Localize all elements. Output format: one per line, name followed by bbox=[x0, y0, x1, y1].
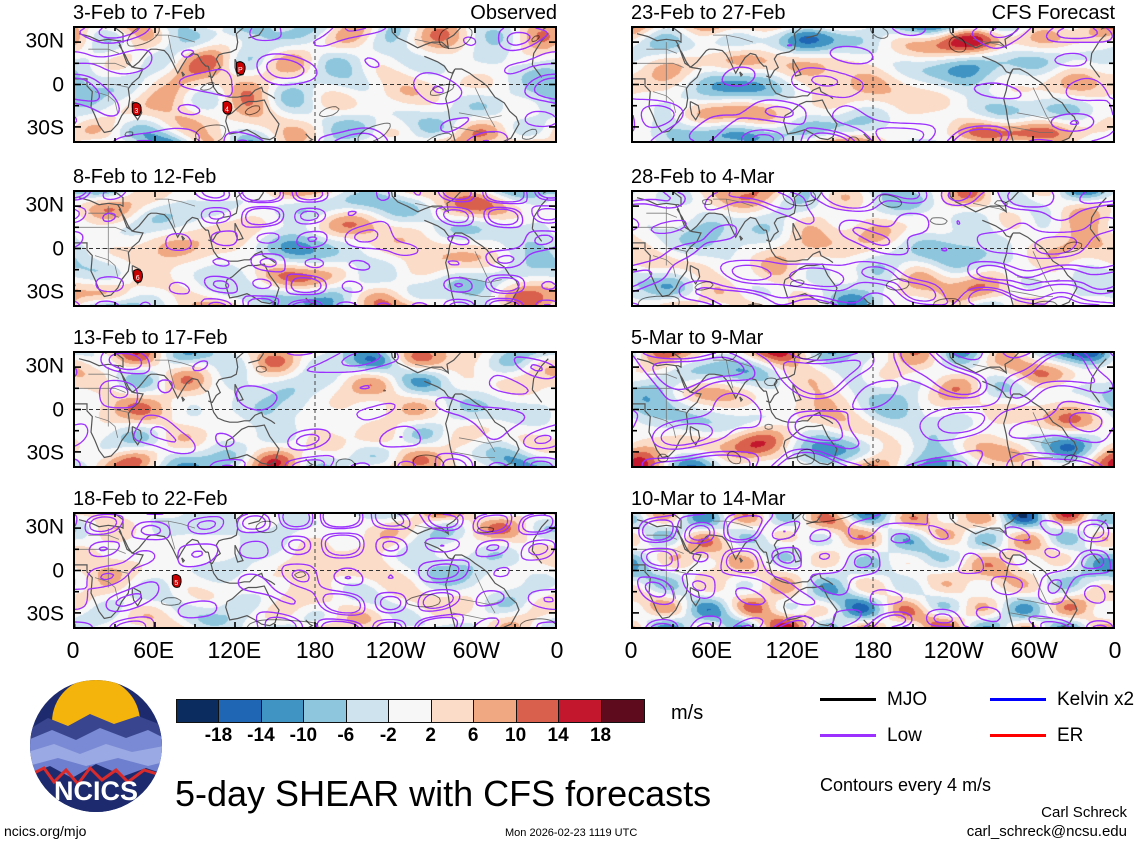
map-canvas-obs-3 bbox=[73, 351, 557, 468]
xlabel-left-120E-2: 120E bbox=[207, 639, 261, 662]
storm-marker-obs-1-2: 4 bbox=[223, 101, 232, 114]
map-panel-obs-4: 18-Feb to 22-Feb530N030S060E120E180120W6… bbox=[73, 512, 557, 629]
map-panel-fcst-1: 23-Feb to 27-FebCFS Forecast bbox=[631, 26, 1115, 143]
colorbar-tick-neg10: -10 bbox=[290, 726, 317, 745]
ylabel-obs-2-0: 0 bbox=[52, 238, 64, 259]
map-overlay-fcst-4 bbox=[633, 514, 1113, 627]
panel-title-fcst-2: 28-Feb to 4-Mar bbox=[631, 167, 774, 187]
xlabel-left-60E-1: 60E bbox=[133, 639, 174, 662]
panel-title-obs-1: 3-Feb to 7-Feb bbox=[73, 3, 205, 23]
ylabel-obs-1-0: 0 bbox=[52, 74, 64, 95]
colorbar-cell-2 bbox=[262, 700, 304, 722]
legend-swatch-er bbox=[990, 734, 1046, 737]
xlabel-right-120W-4: 120W bbox=[924, 639, 984, 662]
ylabel-obs-1-30N: 30N bbox=[25, 30, 64, 51]
contour-legend: MJOKelvin x2LowER bbox=[820, 690, 1120, 760]
map-overlay-obs-3 bbox=[75, 353, 555, 466]
xlabel-right-60E-1: 60E bbox=[691, 639, 732, 662]
map-panel-fcst-3: 5-Mar to 9-Mar bbox=[631, 351, 1115, 468]
map-panel-obs-2: 8-Feb to 12-Feb630N030S bbox=[73, 190, 557, 307]
ylabel-obs-4-0: 0 bbox=[52, 560, 64, 581]
legend-label-er: ER bbox=[1057, 726, 1083, 745]
map-canvas-obs-4: 5 bbox=[73, 512, 557, 629]
ncics-logo: NCICS bbox=[28, 678, 164, 819]
legend-item-mjo: MJO bbox=[820, 690, 927, 709]
xlabel-left-0-0: 0 bbox=[67, 639, 80, 662]
panel-title-fcst-3: 5-Mar to 9-Mar bbox=[631, 328, 763, 348]
colorbar-tick-14: 14 bbox=[548, 726, 569, 745]
colorbar-cell-5 bbox=[389, 700, 431, 722]
map-overlay-obs-1: 3P4 bbox=[75, 28, 555, 141]
xlabel-left-0-6: 0 bbox=[551, 639, 564, 662]
map-canvas-fcst-1 bbox=[631, 26, 1115, 143]
svg-text:NCICS: NCICS bbox=[54, 776, 138, 806]
xlabel-right-180-3: 180 bbox=[854, 639, 892, 662]
ylabel-obs-3-30S: 30S bbox=[27, 443, 64, 464]
legend-item-er: ER bbox=[990, 726, 1083, 745]
map-panel-fcst-4: 10-Mar to 14-Mar060E120E180120W60W0 bbox=[631, 512, 1115, 629]
panel-title-fcst-4: 10-Mar to 14-Mar bbox=[631, 489, 786, 509]
colorbar-cell-6 bbox=[432, 700, 474, 722]
map-canvas-obs-2: 6 bbox=[73, 190, 557, 307]
svg-text:4: 4 bbox=[225, 107, 229, 114]
svg-text:6: 6 bbox=[136, 275, 140, 282]
colorbar-tick-neg6: -6 bbox=[337, 726, 354, 745]
mjo-contour-fcst-4 bbox=[803, 514, 854, 522]
ylabel-obs-2-30S: 30S bbox=[27, 282, 64, 303]
xlabel-left-120W-4: 120W bbox=[366, 639, 426, 662]
ylabel-obs-2-30N: 30N bbox=[25, 194, 64, 215]
panel-title-obs-4: 18-Feb to 22-Feb bbox=[73, 489, 228, 509]
panel-title-obs-3: 13-Feb to 17-Feb bbox=[73, 328, 228, 348]
colorbar-tick-18: 18 bbox=[590, 726, 611, 745]
colorbar-tick-neg18: -18 bbox=[205, 726, 232, 745]
colorbar-cell-10 bbox=[602, 700, 644, 722]
map-overlay-fcst-2 bbox=[633, 192, 1113, 305]
panel-corner-label-obs-1: Observed bbox=[470, 3, 557, 23]
map-overlay-obs-4: 5 bbox=[75, 514, 555, 627]
map-overlay-obs-2: 6 bbox=[75, 192, 555, 305]
legend-swatch-kelvin-x2 bbox=[990, 698, 1046, 701]
map-canvas-fcst-2 bbox=[631, 190, 1115, 307]
ylabel-obs-3-0: 0 bbox=[52, 399, 64, 420]
colorbar-cell-0 bbox=[177, 700, 219, 722]
ylabel-obs-4-30N: 30N bbox=[25, 516, 64, 537]
page-title: 5-day SHEAR with CFS forecasts bbox=[175, 776, 711, 812]
low-contour-negative2-fcst-4 bbox=[647, 524, 1104, 627]
panel-title-fcst-1: 23-Feb to 27-Feb bbox=[631, 3, 786, 23]
xlabel-left-60W-5: 60W bbox=[453, 639, 500, 662]
colorbar-units-label: m/s bbox=[671, 703, 703, 723]
colorbar: -18-14-10-6-226101418 bbox=[176, 699, 643, 759]
colorbar-tick-2: 2 bbox=[425, 726, 436, 745]
storm-marker-obs-1-0: 3 bbox=[132, 103, 141, 116]
colorbar-cell-3 bbox=[304, 700, 346, 722]
ylabel-obs-4-30S: 30S bbox=[27, 604, 64, 625]
colorbar-cell-7 bbox=[474, 700, 516, 722]
ylabel-obs-3-30N: 30N bbox=[25, 355, 64, 376]
legend-label-kelvin-x2: Kelvin x2 bbox=[1057, 690, 1134, 709]
xlabel-right-120E-2: 120E bbox=[765, 639, 819, 662]
contours-note: Contours every 4 m/s bbox=[820, 776, 991, 794]
colorbar-tick-10: 10 bbox=[505, 726, 526, 745]
colorbar-swatches bbox=[176, 699, 645, 723]
colorbar-cell-8 bbox=[517, 700, 559, 722]
svg-text:3: 3 bbox=[134, 108, 138, 115]
ylabel-obs-1-30S: 30S bbox=[27, 118, 64, 139]
storm-marker-obs-4-0: 5 bbox=[172, 575, 181, 588]
xlabel-left-180-3: 180 bbox=[296, 639, 334, 662]
map-panel-obs-3: 13-Feb to 17-Feb30N030S bbox=[73, 351, 557, 468]
colorbar-cell-4 bbox=[347, 700, 389, 722]
legend-item-low: Low bbox=[820, 726, 922, 745]
storm-marker-obs-1-1: P bbox=[236, 62, 245, 75]
site-url[interactable]: ncics.org/mjo bbox=[4, 824, 86, 838]
timestamp: Mon 2026-02-23 1119 UTC bbox=[505, 828, 637, 839]
legend-swatch-mjo bbox=[820, 698, 876, 701]
mjo-contour-obs-3 bbox=[256, 366, 444, 466]
map-overlay-fcst-1 bbox=[633, 28, 1113, 141]
map-overlay-fcst-3 bbox=[633, 353, 1113, 466]
map-panel-fcst-2: 28-Feb to 4-Mar bbox=[631, 190, 1115, 307]
panel-title-obs-2: 8-Feb to 12-Feb bbox=[73, 167, 216, 187]
legend-swatch-low bbox=[820, 734, 876, 737]
colorbar-cell-9 bbox=[559, 700, 601, 722]
map-panel-obs-1: 3-Feb to 7-FebObserved3P430N030S bbox=[73, 26, 557, 143]
panel-corner-label-fcst-1: CFS Forecast bbox=[992, 3, 1115, 23]
map-canvas-fcst-3 bbox=[631, 351, 1115, 468]
colorbar-tick-neg14: -14 bbox=[247, 726, 274, 745]
colorbar-tick-neg2: -2 bbox=[380, 726, 397, 745]
author-name: Carl Schreck bbox=[1041, 805, 1127, 820]
legend-label-mjo: MJO bbox=[887, 690, 927, 709]
figure-root: 3-Feb to 7-FebObserved3P430N030S8-Feb to… bbox=[0, 0, 1135, 844]
map-canvas-obs-1: 3P4 bbox=[73, 26, 557, 143]
storm-marker-obs-2-0: 6 bbox=[134, 269, 143, 282]
map-canvas-fcst-4 bbox=[631, 512, 1115, 629]
svg-text:P: P bbox=[238, 67, 243, 74]
legend-label-low: Low bbox=[887, 726, 922, 745]
ncics-logo-svg: NCICS bbox=[28, 678, 164, 814]
author-email: carl_schreck@ncsu.edu bbox=[967, 824, 1127, 839]
colorbar-cell-1 bbox=[219, 700, 261, 722]
xlabel-right-60W-5: 60W bbox=[1011, 639, 1058, 662]
xlabel-right-0-6: 0 bbox=[1109, 639, 1122, 662]
svg-text:5: 5 bbox=[174, 580, 178, 587]
xlabel-right-0-0: 0 bbox=[625, 639, 638, 662]
colorbar-tick-6: 6 bbox=[468, 726, 479, 745]
legend-item-kelvin-x2: Kelvin x2 bbox=[990, 690, 1134, 709]
